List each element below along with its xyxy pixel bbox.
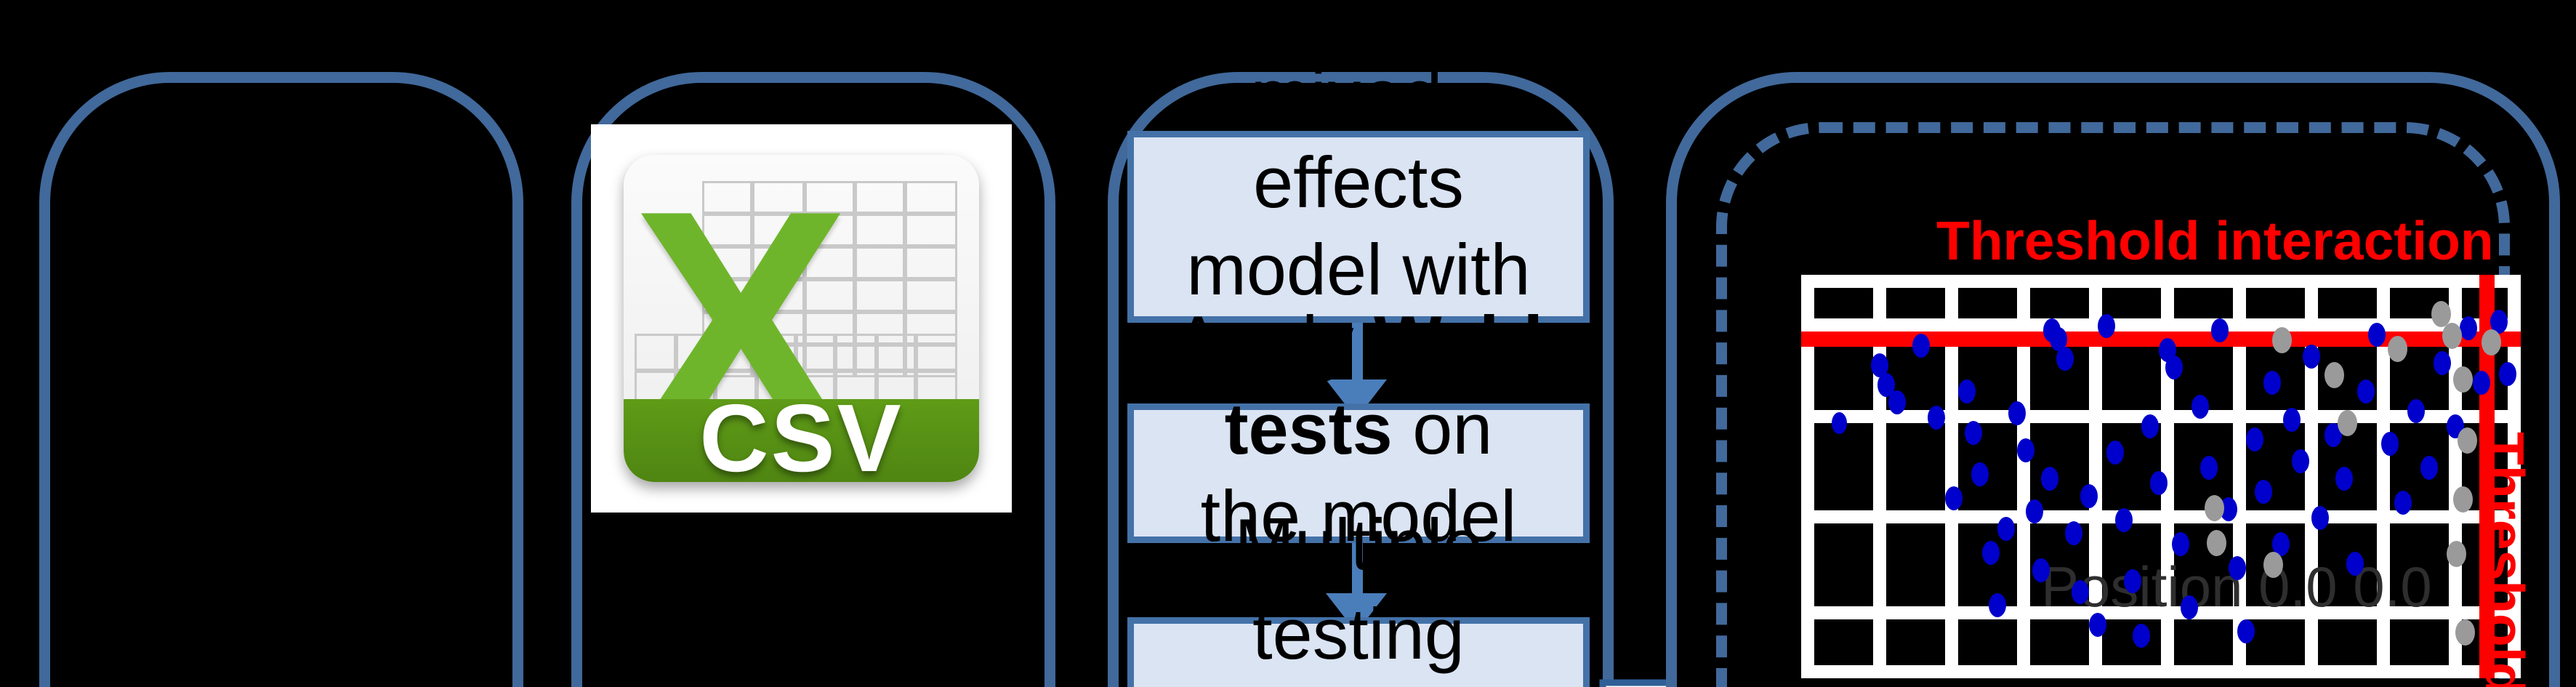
input-panel	[39, 72, 523, 687]
box-multiple-testing: Multiple testingcorrectionwith the BH pr…	[1127, 617, 1590, 687]
csv-icon-body: X CSV	[624, 156, 978, 482]
threshold-state-label: Threshold state	[2471, 432, 2534, 687]
threshold-interaction-label: Threshold interaction	[1936, 212, 2494, 275]
csv-band: CSV	[624, 400, 978, 481]
gridline-h	[1801, 510, 2521, 523]
scatter-plot: Position 0.0 0.0	[1801, 275, 2521, 678]
box-fit-model: Fit a linear mixed-effects model withREM…	[1127, 131, 1590, 323]
gridline-h	[1801, 318, 2521, 332]
csv-file-icon: X CSV	[591, 124, 1012, 513]
csv-band-label: CSV	[699, 386, 903, 481]
gridline-h	[1801, 275, 2521, 288]
box-multiple-testing-text: Multiple testingcorrectionwith the BH pr…	[1160, 502, 1557, 687]
gridline-h	[1801, 665, 2521, 678]
